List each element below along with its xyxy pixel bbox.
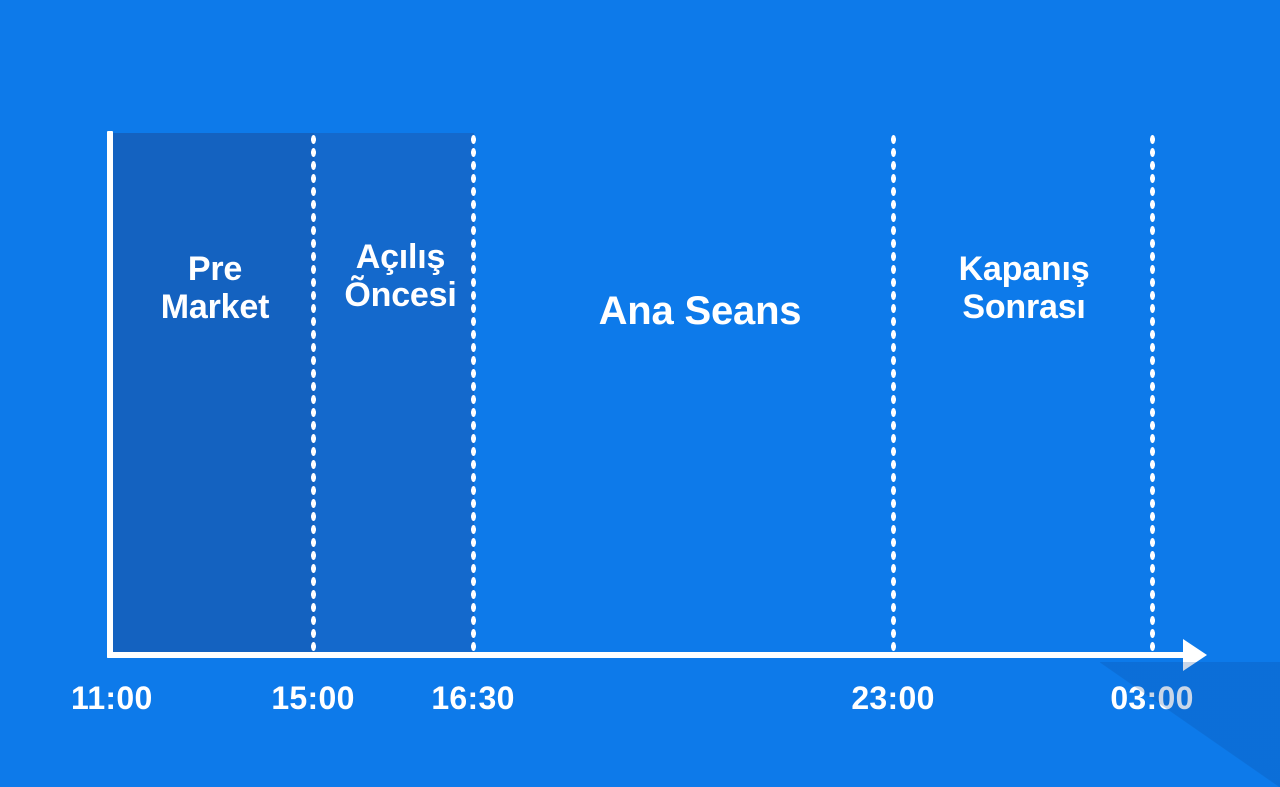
axis-tick-label-1630: 16:30 <box>403 680 543 717</box>
band-label-ana-seans: Ana Seans <box>520 289 880 334</box>
divider-0300 <box>1149 133 1156 654</box>
axis-tick-label-1500: 15:00 <box>243 680 383 717</box>
divider-1500 <box>310 133 317 654</box>
x-axis-arrow-icon <box>1183 639 1207 671</box>
x-axis-line <box>107 652 1195 658</box>
divider-2300 <box>890 133 897 654</box>
y-axis-line <box>107 131 113 658</box>
session-band-pre-market <box>113 133 314 654</box>
band-label-acilis-oncesi: Açılış Õncesi <box>323 238 478 314</box>
axis-tick-label-0300: 03:00 <box>1082 680 1222 717</box>
band-label-pre-market: Pre Market <box>120 250 310 326</box>
divider-1630 <box>470 133 477 654</box>
timeline-chart: Pre Market Açılış Õncesi Ana Seans Kapan… <box>0 0 1280 787</box>
axis-tick-label-1100: 11:00 <box>48 680 211 717</box>
axis-tick-label-2300: 23:00 <box>823 680 963 717</box>
band-label-kapanis-sonrasi: Kapanış Sonrası <box>900 250 1148 326</box>
session-band-acilis-oncesi <box>314 133 474 654</box>
